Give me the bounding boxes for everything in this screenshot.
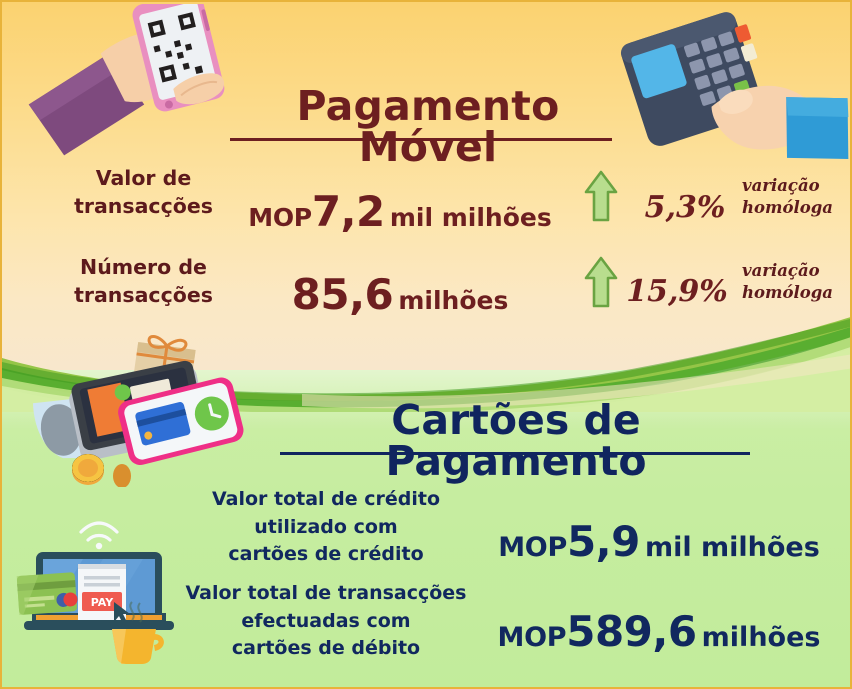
- note-line-1: variação: [742, 176, 820, 195]
- amount-number: 5,9: [567, 517, 640, 566]
- cards-section-title: Cartões de Pagamento: [270, 400, 762, 482]
- amount-unit: mil milhões: [390, 203, 552, 232]
- note-line-2: homóloga: [742, 283, 833, 302]
- cards-row-credit-amount: MOP5,9 mil milhões: [489, 517, 829, 566]
- hand-holding-phone-qr-icon: [20, 4, 235, 159]
- mobile-row-count-amount: 85,6 milhões: [235, 270, 565, 319]
- arrow-up-icon: [584, 256, 618, 308]
- amount-number: 85,6: [292, 270, 394, 319]
- arrow-up-icon: [584, 170, 618, 222]
- mobile-row-value-label: Valor de transacções: [36, 165, 251, 220]
- amount-unit: mil milhões: [645, 532, 820, 563]
- currency-code: MOP: [498, 622, 567, 653]
- cards-row-credit-label: Valor total de crédito utilizado com car…: [176, 486, 476, 569]
- label-line-2: transacções: [74, 283, 213, 307]
- label-line-2: utilizado com: [254, 516, 397, 538]
- mobile-section-title: Pagamento Móvel: [228, 86, 628, 168]
- infographic-root: Pagamento Móvel Valor de transacções MOP…: [0, 0, 852, 689]
- amount-unit: milhões: [702, 622, 821, 653]
- amount-number: 7,2: [312, 187, 385, 236]
- cards-section-title-underline: [280, 452, 750, 455]
- amount-number: 589,6: [566, 607, 696, 656]
- amount-unit: milhões: [398, 286, 508, 315]
- mobile-section-title-underline: [230, 138, 612, 141]
- mobile-row-value-change: 5,3%: [630, 190, 740, 225]
- label-line-3: cartões de débito: [232, 637, 420, 659]
- note-line-1: variação: [742, 261, 820, 280]
- label-line-1: Valor de: [96, 166, 192, 190]
- laptop-pay-card-coffee-icon: PAY: [8, 502, 204, 667]
- pay-button-label: PAY: [91, 596, 115, 609]
- currency-code: MOP: [498, 532, 567, 563]
- mobile-row-value-change-note: variação homóloga: [742, 175, 852, 219]
- label-line-2: transacções: [74, 194, 213, 218]
- hand-holding-pos-terminal-icon: [610, 6, 850, 166]
- label-line-1: Número de: [80, 255, 207, 279]
- label-line-2: efectuadas com: [241, 610, 410, 632]
- currency-code: MOP: [248, 203, 312, 232]
- note-line-2: homóloga: [742, 198, 833, 217]
- mobile-row-count-change-note: variação homóloga: [742, 260, 852, 304]
- label-line-3: cartões de crédito: [228, 543, 423, 565]
- label-line-1: Valor total de crédito: [212, 488, 440, 510]
- mobile-row-value-amount: MOP7,2 mil milhões: [235, 187, 565, 236]
- mobile-row-count-change: 15,9%: [622, 274, 732, 309]
- cards-row-debit-amount: MOP589,6 milhões: [489, 607, 829, 656]
- pos-terminal-phone-coins-gift-icon: [18, 332, 248, 487]
- mobile-row-count-label: Número de transacções: [36, 254, 251, 309]
- label-line-1: Valor total de transacções: [185, 582, 466, 604]
- cards-row-debit-label: Valor total de transacções efectuadas co…: [176, 580, 476, 663]
